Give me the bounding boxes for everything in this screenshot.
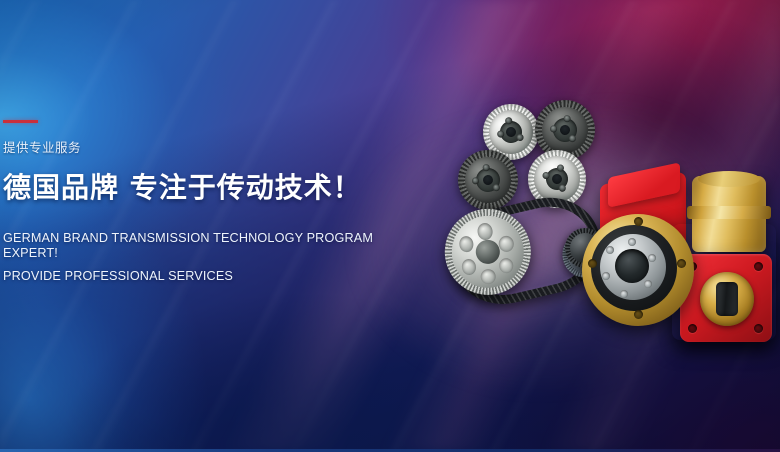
page-title: 德国品牌 专注于传动技术！ <box>3 173 433 203</box>
hero-banner: 提供专业服务 德国品牌 专注于传动技术！ GERMAN BRAND TRANSM… <box>0 0 780 452</box>
reducer-flange-bolt <box>677 259 686 268</box>
accent-rule <box>3 120 38 123</box>
reducer-bore <box>615 249 649 283</box>
gearbox-brass-barrel <box>692 176 766 252</box>
reducer-face-bolt <box>644 280 652 288</box>
subline-english-1: GERMAN BRAND TRANSMISSION TECHNOLOGY PRO… <box>3 230 416 260</box>
barrel-top-ring <box>698 171 760 187</box>
reducer-face-bolt <box>620 290 628 298</box>
reducer-face-bolt <box>628 238 636 246</box>
reducer-flange-bolt <box>634 217 643 226</box>
eyebrow-text: 提供专业服务 <box>3 137 433 156</box>
flange-bolt <box>754 324 763 333</box>
reducer-face-bolt <box>606 246 614 254</box>
gearbox-output-shaft <box>716 282 738 316</box>
reducer-flange-bolt <box>634 310 643 319</box>
subline-english-2: PROVIDE PROFESSIONAL SERVICES <box>3 268 416 283</box>
planetary-reducer-output-flange <box>582 214 700 330</box>
banner-copy-block: 提供专业服务 德国品牌 专注于传动技术！ GERMAN BRAND TRANSM… <box>3 110 433 283</box>
reducer-face-bolt <box>648 254 656 262</box>
reducer-face-bolt <box>602 272 610 280</box>
flange-bolt <box>754 262 763 271</box>
reducer-flange-bolt <box>588 259 597 268</box>
